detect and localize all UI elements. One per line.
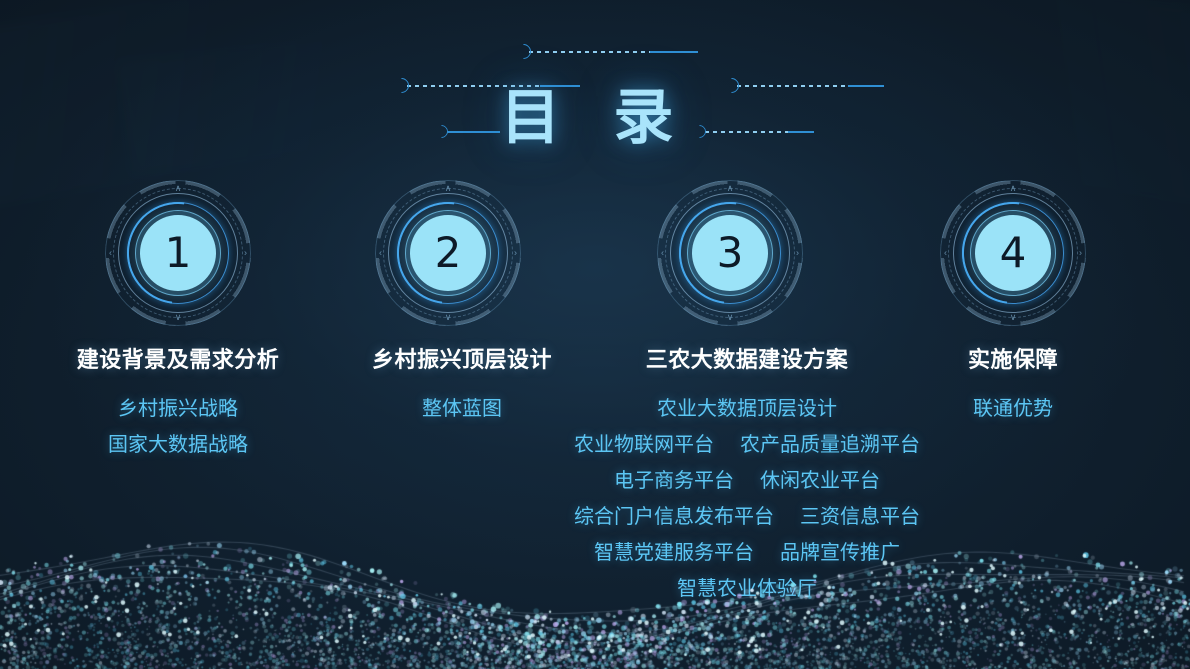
tick-west-icon: ‹ — [944, 249, 947, 258]
section-badge-2[interactable]: ∧ ∨ ‹ › 2 — [375, 180, 521, 326]
tick-north-icon: ∧ — [445, 184, 452, 193]
badge-number: 1 — [165, 232, 192, 274]
section-item-row: 电子商务平台 休闲农业平台 — [574, 462, 920, 498]
section-heading: 实施保障 — [968, 348, 1058, 374]
tick-south-icon: ∨ — [1010, 313, 1017, 322]
tick-north-icon: ∧ — [175, 184, 182, 193]
badge-disc: 1 — [140, 215, 216, 291]
tick-north-icon: ∧ — [1010, 184, 1017, 193]
tick-south-icon: ∨ — [727, 313, 734, 322]
badge-disc: 3 — [692, 215, 768, 291]
tick-west-icon: ‹ — [661, 249, 664, 258]
tick-east-icon: › — [514, 249, 517, 258]
section-column-4: 实施保障 联通优势 — [968, 348, 1058, 426]
section-column-2: 乡村振兴顶层设计 整体蓝图 — [372, 348, 552, 426]
badge-number: 2 — [435, 232, 462, 274]
decor-dashes — [529, 51, 650, 53]
page-title: 目 录 — [0, 87, 1190, 149]
section-item[interactable]: 电子商务平台 — [614, 462, 734, 498]
section-item-row: 农业物联网平台 农产品质量追溯平台 — [574, 426, 920, 462]
section-heading: 三农大数据建设方案 — [574, 348, 920, 374]
section-item[interactable]: 农业大数据顶层设计 — [574, 390, 920, 426]
section-badge-4[interactable]: ∧ ∨ ‹ › 4 — [940, 180, 1086, 326]
decor-solid — [650, 51, 698, 53]
hook-icon — [513, 41, 534, 62]
particle-wave — [0, 519, 1190, 669]
tick-south-icon: ∨ — [175, 313, 182, 322]
badge-disc: 2 — [410, 215, 486, 291]
section-item[interactable]: 休闲农业平台 — [760, 462, 880, 498]
section-item[interactable]: 乡村振兴战略 — [77, 390, 280, 426]
section-badge-3[interactable]: ∧ ∨ ‹ › 3 — [657, 180, 803, 326]
badge-number: 4 — [1000, 232, 1027, 274]
tick-east-icon: › — [1079, 249, 1082, 258]
section-column-1: 建设背景及需求分析 乡村振兴战略 国家大数据战略 — [77, 348, 280, 462]
tick-north-icon: ∧ — [727, 184, 734, 193]
tick-west-icon: ‹ — [379, 249, 382, 258]
section-badge-1[interactable]: ∧ ∨ ‹ › 1 — [105, 180, 251, 326]
section-item[interactable]: 农业物联网平台 — [574, 426, 714, 462]
tick-south-icon: ∨ — [445, 313, 452, 322]
section-item[interactable]: 国家大数据战略 — [77, 426, 280, 462]
badge-disc: 4 — [975, 215, 1051, 291]
tick-east-icon: › — [796, 249, 799, 258]
section-item[interactable]: 联通优势 — [968, 390, 1058, 426]
tick-east-icon: › — [244, 249, 247, 258]
tick-west-icon: ‹ — [109, 249, 112, 258]
section-item[interactable]: 农产品质量追溯平台 — [740, 426, 920, 462]
section-heading: 建设背景及需求分析 — [77, 348, 280, 374]
badge-number: 3 — [717, 232, 744, 274]
section-heading: 乡村振兴顶层设计 — [372, 348, 552, 374]
slide-canvas: 目 录 ∧ ∨ ‹ › 1 ∧ ∨ ‹ › 2 — [0, 0, 1190, 669]
decor-line-top — [516, 50, 698, 53]
section-item[interactable]: 整体蓝图 — [372, 390, 552, 426]
